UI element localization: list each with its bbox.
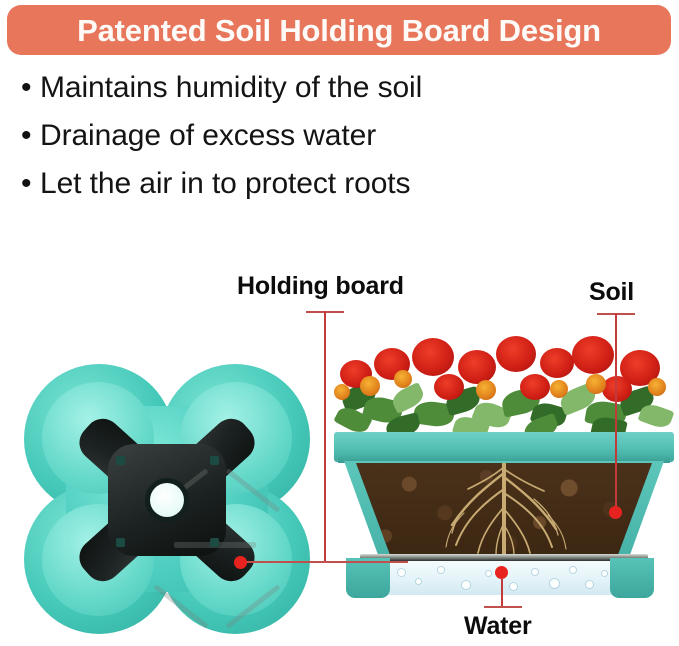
water-bubble (438, 567, 444, 573)
plant-canopy (334, 330, 674, 440)
bullet-icon: • (18, 116, 40, 156)
planter-top-view-photo (8, 358, 326, 640)
callout-label-water: Water (464, 612, 532, 641)
flower-bloom (540, 348, 574, 378)
bullet-icon: • (18, 164, 40, 204)
product-diagram: Holding board Soil Water (0, 230, 679, 646)
flower-bloom-accent (360, 376, 380, 396)
drain-vent-icon (116, 538, 125, 547)
leader-line-holding-board (324, 311, 326, 562)
flower-bloom-accent (648, 378, 666, 396)
callout-label-holding-board: Holding board (237, 272, 404, 301)
water-bubble (602, 571, 607, 576)
callout-marker-holding-board (234, 556, 247, 569)
feature-text: Drainage of excess water (40, 116, 376, 156)
flower-bloom-accent (394, 370, 412, 388)
flower-bloom (572, 336, 614, 374)
list-item: • Maintains humidity of the soil (18, 68, 638, 113)
list-item: • Let the air in to protect roots (18, 164, 638, 209)
planter-cross-section-photo (334, 330, 674, 590)
water-bubble (586, 581, 593, 588)
flower-bloom (434, 374, 464, 400)
water-bubble (462, 581, 470, 589)
drain-vent-icon (210, 538, 219, 547)
holding-board-rib (225, 468, 280, 513)
water-bubble (510, 583, 517, 590)
page-title: Patented Soil Holding Board Design (77, 15, 601, 46)
flower-bloom-accent (334, 384, 350, 400)
callout-label-soil: Soil (589, 278, 634, 307)
leader-line-holding-board-horizontal (240, 561, 408, 563)
water-bubble (570, 567, 576, 573)
flower-bloom (496, 336, 536, 372)
feature-list: • Maintains humidity of the soil • Drain… (18, 68, 638, 212)
holding-board-insert (60, 396, 274, 604)
flower-bloom (520, 374, 550, 400)
drain-vent-icon (116, 456, 125, 465)
header-banner: Patented Soil Holding Board Design (7, 5, 671, 55)
water-bubble (532, 569, 538, 575)
water-bubble (416, 579, 421, 584)
water-bubble (550, 579, 559, 588)
flower-bloom-accent (586, 374, 606, 394)
list-item: • Drainage of excess water (18, 116, 638, 161)
soil-layer (356, 463, 652, 559)
planter-foot (346, 558, 390, 598)
flower-bloom (458, 350, 496, 384)
water-bubble (398, 569, 405, 576)
flower-bloom-accent (550, 380, 568, 398)
leader-line-water (501, 578, 503, 607)
center-drain-hole (150, 483, 184, 517)
leader-line-soil (615, 313, 617, 514)
feature-text: Maintains humidity of the soil (40, 68, 422, 108)
feature-text: Let the air in to protect roots (40, 164, 410, 204)
water-bubble (486, 571, 491, 576)
flower-bloom (412, 338, 454, 376)
flower-bloom-accent (476, 380, 496, 400)
drain-vent-icon (210, 456, 219, 465)
callout-marker-soil (609, 506, 622, 519)
flower-bloom (602, 376, 632, 402)
bullet-icon: • (18, 68, 40, 108)
holding-board-section (360, 554, 648, 561)
leader-tbar-water (484, 606, 522, 608)
planter-foot (610, 558, 654, 598)
